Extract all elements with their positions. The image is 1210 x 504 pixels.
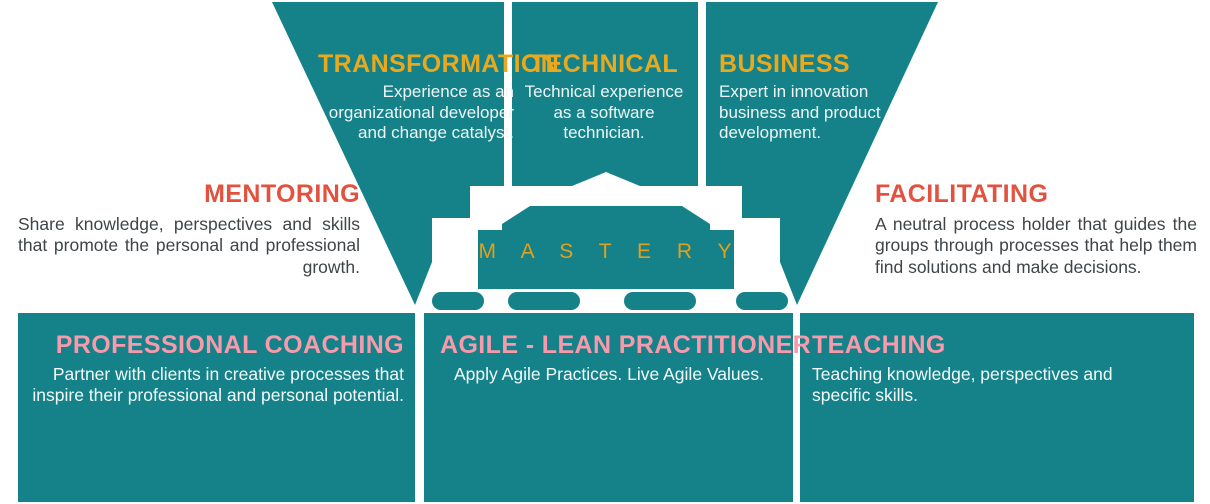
professional-coaching-body: Partner with clients in creative process… (26, 364, 404, 407)
business-text-block: BUSINESS Expert in innovation business a… (719, 52, 894, 144)
professional-coaching-text-block: PROFESSIONAL COACHING Partner with clien… (26, 333, 404, 407)
business-heading: BUSINESS (719, 50, 850, 78)
mentoring-heading: MENTORING (204, 180, 360, 208)
agile-lean-practitioner-text-block: AGILE - LEAN PRACTITIONER Apply Agile Pr… (440, 333, 778, 385)
mentoring-text-block: MENTORING Share knowledge, perspectives … (18, 182, 360, 278)
technical-body: Technical experience as a software techn… (518, 82, 690, 144)
professional-coaching-heading-wrap: PROFESSIONAL COACHING (26, 333, 404, 358)
mentoring-body: Share knowledge, perspectives and skills… (18, 214, 360, 278)
business-body: Expert in innovation business and produc… (719, 82, 894, 144)
business-heading-wrap: BUSINESS (719, 52, 894, 77)
mastery-label: M A S T E R Y (460, 240, 750, 264)
technical-heading: TECHNICAL (530, 50, 678, 78)
teaching-text-block: TEACHING Teaching knowledge, perspective… (812, 333, 1152, 407)
facilitating-text-block: FACILITATING A neutral process holder th… (875, 182, 1197, 278)
agile-lean-practitioner-heading-wrap: AGILE - LEAN PRACTITIONER (440, 333, 778, 358)
teaching-heading: TEACHING (812, 331, 946, 359)
transformation-text-block: TRANSFORMATION Experience as an organiza… (318, 52, 514, 144)
pedestal-dash-3 (624, 292, 696, 310)
facilitating-heading: FACILITATING (875, 180, 1048, 208)
infographic-canvas: TRANSFORMATION Experience as an organiza… (0, 0, 1210, 504)
teaching-heading-wrap: TEACHING (812, 333, 1152, 358)
technical-heading-wrap: TECHNICAL (518, 52, 690, 77)
technical-text-block: TECHNICAL Technical experience as a soft… (518, 52, 690, 144)
facilitating-body: A neutral process holder that guides the… (875, 214, 1197, 278)
agile-lean-practitioner-body: Apply Agile Practices. Live Agile Values… (440, 364, 778, 385)
professional-coaching-heading: PROFESSIONAL COACHING (56, 331, 404, 359)
mentoring-heading-wrap: MENTORING (18, 182, 360, 207)
transformation-heading-wrap: TRANSFORMATION (318, 52, 514, 77)
facilitating-heading-wrap: FACILITATING (875, 182, 1197, 207)
transformation-body: Experience as an organizational develope… (318, 82, 514, 144)
pedestal-dash-2 (508, 292, 580, 310)
agile-lean-practitioner-heading: AGILE - LEAN PRACTITIONER (440, 331, 811, 359)
pedestal-dash-4 (736, 292, 788, 310)
teaching-body: Teaching knowledge, perspectives and spe… (812, 364, 1152, 407)
pedestal-dash-1 (432, 292, 484, 310)
